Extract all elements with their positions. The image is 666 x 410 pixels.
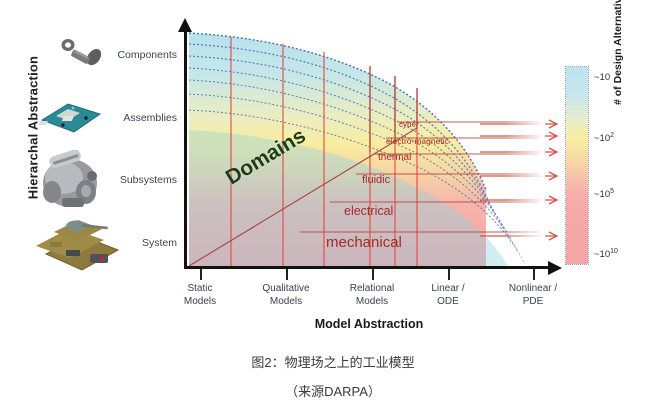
x-tick-2 <box>286 269 288 280</box>
x-label-nonlinear-pde: Nonlinear / PDE <box>478 283 588 308</box>
colorbar <box>566 67 588 264</box>
colorbar-tick-2-text: ~10 <box>594 133 610 144</box>
x-axis-line <box>184 266 550 269</box>
x-tick-1 <box>200 269 202 280</box>
x-label-nonlinear-pde-line1: Nonlinear / <box>478 283 588 296</box>
x-axis-title: Model Abstraction <box>186 317 552 331</box>
colorbar-title: # of Design Alternatives <box>612 0 624 105</box>
colorbar-tick-2: ~102 <box>594 132 614 144</box>
x-label-nonlinear-pde-line2: PDE <box>478 296 588 309</box>
domain-label-fluidic: fluidic <box>362 174 390 186</box>
colorbar-tick-3-text: ~10 <box>594 189 610 200</box>
x-tick-3 <box>372 269 374 280</box>
x-tick-5 <box>533 269 535 280</box>
figure-container: Hierarchal Abstraction <box>0 0 666 410</box>
colorbar-tick-3: ~105 <box>594 188 614 200</box>
x-axis-arrow-icon <box>548 261 562 275</box>
colorbar-tick-1: ~10 <box>594 72 610 83</box>
y-axis-line <box>184 30 187 268</box>
y-axis-arrow-icon <box>178 18 192 32</box>
domain-label-electrical: electrical <box>344 204 393 218</box>
x-tick-4 <box>448 269 450 280</box>
colorbar-tick-4-exp: 10 <box>610 248 618 255</box>
colorbar-tick-4-text: ~10 <box>594 249 610 260</box>
figure-caption-source: （来源DARPA） <box>0 381 666 400</box>
figure-caption-main: 图2：物理场之上的工业模型 <box>0 352 666 371</box>
domain-label-electro-magnetic: electro-magnetic <box>386 136 449 146</box>
domain-label-cyber: cyber <box>399 120 419 129</box>
colorbar-tick-3-exp: 5 <box>610 188 614 195</box>
colorbar-tick-1-text: ~10 <box>594 72 610 83</box>
domain-label-thermal: thermal <box>378 152 411 163</box>
domain-label-mechanical: mechanical <box>326 234 402 251</box>
colorbar-tick-2-exp: 2 <box>610 132 614 139</box>
colorbar-tick-4: ~1010 <box>594 248 618 260</box>
